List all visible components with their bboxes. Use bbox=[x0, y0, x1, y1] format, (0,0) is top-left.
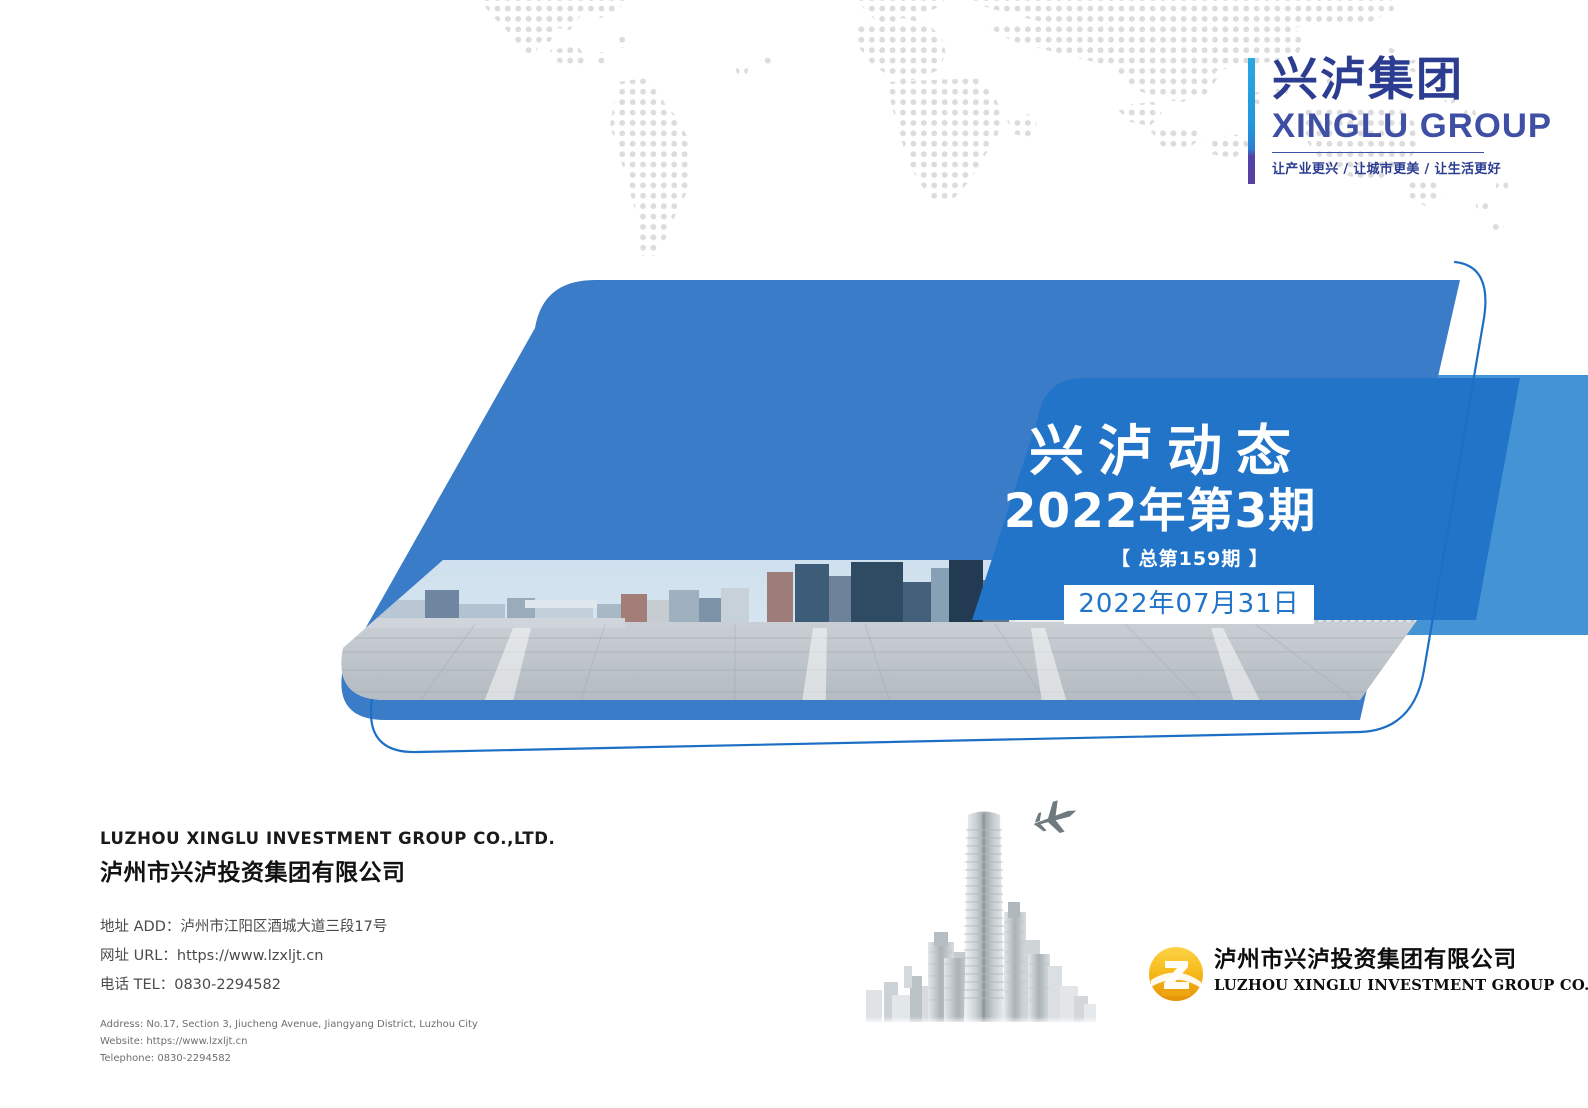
logo-tagline: 让产业更兴 / 让城市更美 / 让生活更好 bbox=[1272, 158, 1501, 177]
contact-telephone-label: 电话 TEL： bbox=[100, 977, 174, 993]
logo-accent-bar bbox=[1248, 58, 1255, 184]
company-name-en: LUZHOU XINGLU INVESTMENT GROUP CO.,LTD. bbox=[100, 828, 620, 850]
hero-banner: 兴泸动态 2022年第3期 【 总第159期 】 2022年07月31日 bbox=[0, 230, 1588, 775]
footer-company-info: LUZHOU XINGLU INVESTMENT GROUP CO.,LTD. … bbox=[100, 828, 620, 1067]
footer-brand-name-en: LUZHOU XINGLU INVESTMENT GROUP CO.,LTD. bbox=[1214, 976, 1588, 996]
logo-english-name: XINGLU GROUP bbox=[1272, 106, 1552, 146]
footer-brand-name-cn: 泸州市兴泸投资集团有限公司 bbox=[1214, 946, 1517, 974]
contact-list-en: Address: No.17, Section 3, Jiucheng Aven… bbox=[100, 1016, 620, 1067]
contact-address-value: 泸州市江阳区酒城大道三段17号 bbox=[180, 919, 387, 935]
header-logo: 兴泸集团 XINGLU GROUP 让产业更兴 / 让城市更美 / 让生活更好 bbox=[1248, 52, 1484, 184]
issue-serial-number: 【 总第159期 】 bbox=[960, 546, 1360, 572]
contact-telephone-value: 0830-2294582 bbox=[174, 977, 281, 993]
company-name-cn: 泸州市兴泸投资集团有限公司 bbox=[100, 857, 620, 889]
skyscraper-cluster-icon bbox=[832, 790, 1112, 1025]
contact-telephone: 电话 TEL：0830-2294582 bbox=[100, 971, 620, 1000]
issue-date-badge: 2022年07月31日 bbox=[1064, 585, 1313, 624]
contact-address: 地址 ADD：泸州市江阳区酒城大道三段17号 bbox=[100, 913, 620, 942]
xinglu-circular-logo-icon bbox=[1148, 946, 1204, 1002]
contact-address-en: Address: No.17, Section 3, Jiucheng Aven… bbox=[100, 1016, 620, 1033]
logo-divider bbox=[1272, 152, 1484, 153]
issue-number: 2022年第3期 bbox=[960, 484, 1360, 540]
footer-brand: 泸州市兴泸投资集团有限公司 LUZHOU XINGLU INVESTMENT G… bbox=[1148, 944, 1498, 1004]
publication-title: 兴泸动态 bbox=[960, 420, 1360, 482]
contact-website-value[interactable]: https://www.lzxljt.cn bbox=[177, 948, 324, 964]
issue-date-wrapper: 2022年07月31日 bbox=[960, 585, 1360, 624]
contact-website: 网址 URL：https://www.lzxljt.cn bbox=[100, 942, 620, 971]
logo-chinese-name: 兴泸集团 bbox=[1272, 52, 1464, 106]
contact-address-label: 地址 ADD： bbox=[100, 919, 180, 935]
airplane-icon bbox=[1030, 796, 1081, 839]
magazine-cover-page: 兴泸集团 XINGLU GROUP 让产业更兴 / 让城市更美 / 让生活更好 bbox=[0, 0, 1588, 1108]
contact-website-label: 网址 URL： bbox=[100, 948, 177, 964]
contact-list-cn: 地址 ADD：泸州市江阳区酒城大道三段17号 网址 URL：https://ww… bbox=[100, 913, 620, 1000]
contact-website-en[interactable]: Website: https://www.lzxljt.cn bbox=[100, 1033, 620, 1050]
contact-telephone-en: Telephone: 0830-2294582 bbox=[100, 1050, 620, 1067]
hero-text-block: 兴泸动态 2022年第3期 【 总第159期 】 2022年07月31日 bbox=[960, 420, 1360, 624]
